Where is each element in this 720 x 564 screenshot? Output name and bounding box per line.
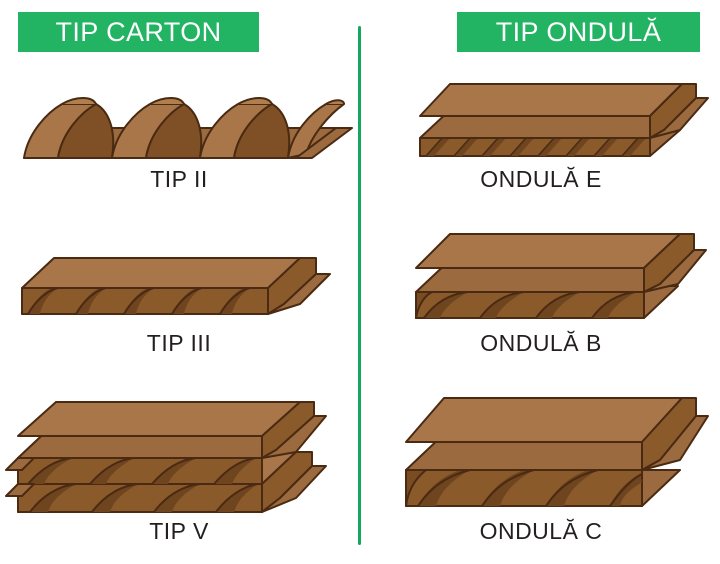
single-face-corrugated-icon [0,62,358,172]
vertical-divider [358,26,361,545]
board-cell-tip-v: TIP V [0,388,358,553]
board-caption-ondula-b: ONDULĂ B [362,332,720,355]
board-cell-ondula-c: ONDULĂ C [362,388,720,553]
header-banner-ondula: TIP ONDULĂ [457,12,700,52]
board-caption-ondula-e: ONDULĂ E [362,168,720,191]
board-cell-ondula-b: ONDULĂ B [362,222,720,362]
double-wall-board-icon [0,388,358,524]
cardboard-types-poster: TIP CARTON TIP ONDULĂ [0,0,720,564]
board-caption-tip-ii: TIP II [0,168,358,191]
c-flute-board-icon [362,388,720,524]
e-flute-board-icon [362,62,720,172]
board-cell-tip-iii: TIP III [0,222,358,362]
board-cell-ondula-e: ONDULĂ E [362,62,720,197]
header-banner-ondula-label: TIP ONDULĂ [496,19,662,46]
board-caption-tip-v: TIP V [0,520,358,543]
board-caption-ondula-c: ONDULĂ C [362,520,720,543]
b-flute-board-icon [362,222,720,334]
single-wall-board-icon [0,222,358,334]
board-caption-tip-iii: TIP III [0,332,358,355]
header-banner-carton: TIP CARTON [18,12,259,52]
board-cell-tip-ii: TIP II [0,62,358,197]
header-banner-carton-label: TIP CARTON [55,19,221,46]
